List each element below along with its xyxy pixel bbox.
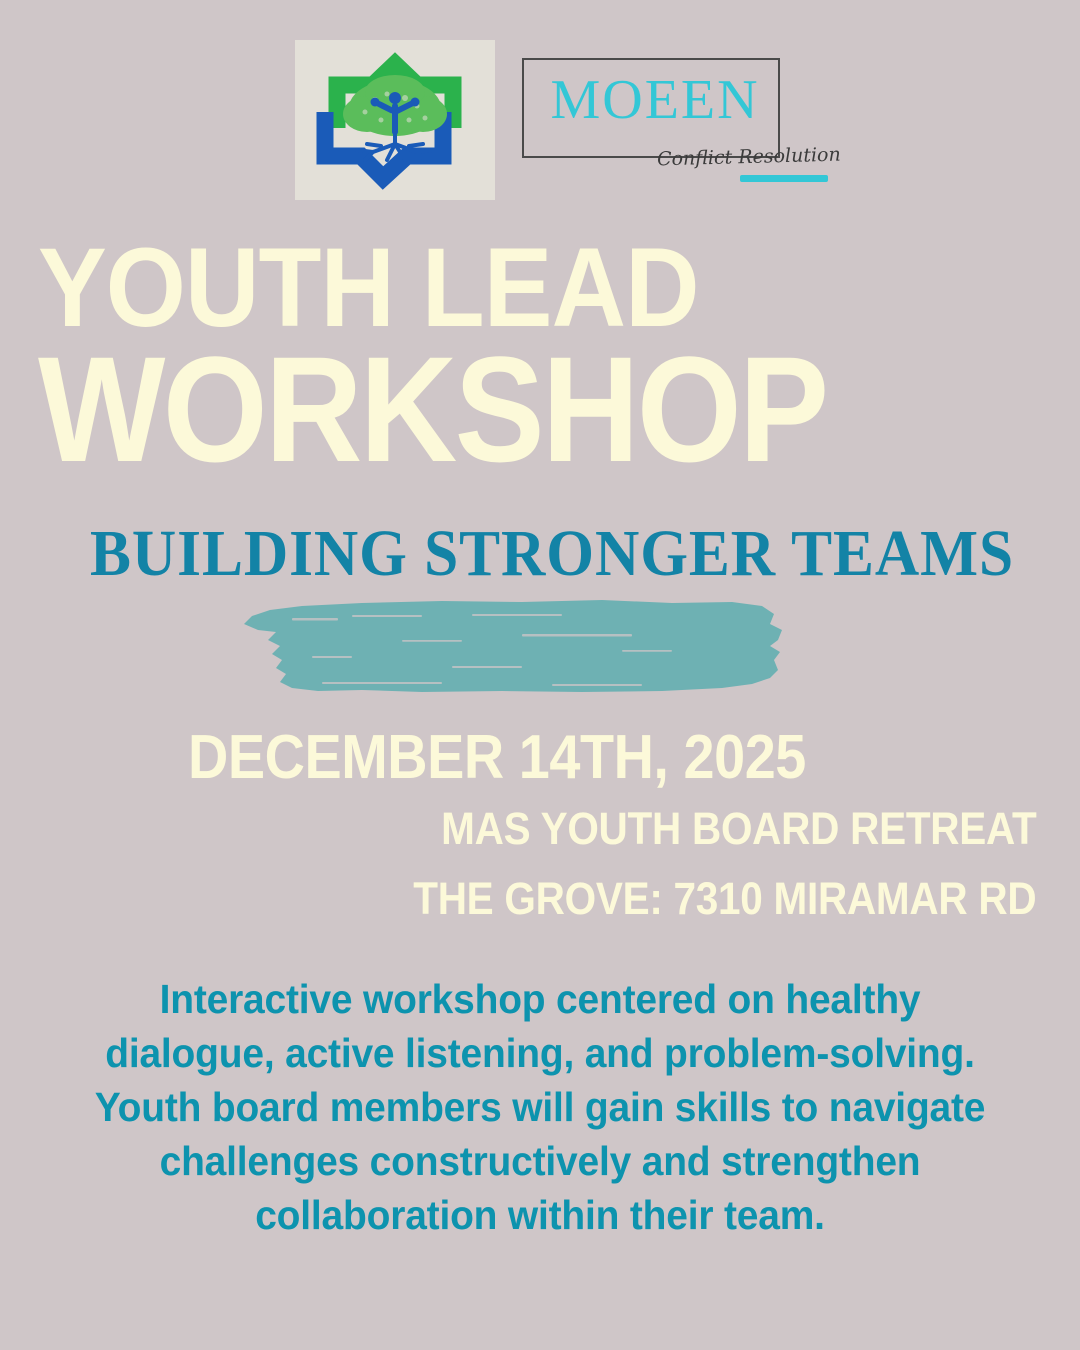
- moeen-tree-octagon-logo: [295, 40, 495, 200]
- header-logo-row: MOEEN Conflict Resolution: [0, 0, 1080, 225]
- description-line: challenges constructively and strengthen: [84, 1134, 996, 1188]
- description-line: Youth board members will gain skills to …: [84, 1080, 996, 1134]
- wordmark-dash: [522, 156, 650, 158]
- flyer-canvas: MOEEN Conflict Resolution YOUTH LEAD WOR…: [0, 0, 1080, 1350]
- wordmark-underline-brush: [740, 175, 828, 182]
- description-line: collaboration within their team.: [84, 1188, 996, 1242]
- wordmark-tagline: Conflict Resolution: [657, 144, 841, 171]
- event-date: DECEMBER 14TH, 2025: [188, 722, 806, 793]
- description-line: dialogue, active listening, and problem-…: [84, 1026, 996, 1080]
- subtitle: BUILDING STRONGER TEAMS: [90, 516, 927, 592]
- event-venue-name: MAS YOUTH BOARD RETREAT: [441, 803, 1036, 855]
- wordmark-text: MOEEN: [540, 70, 770, 130]
- description-line: Interactive workshop centered on healthy: [84, 972, 996, 1026]
- title-line-2: WORKSHOP: [38, 340, 826, 478]
- moeen-wordmark: MOEEN Conflict Resolution: [522, 58, 782, 168]
- event-description: Interactive workshop centered on healthy…: [60, 972, 1020, 1242]
- title-line-1: YOUTH LEAD: [38, 236, 699, 339]
- event-venue-address: THE GROVE: 7310 MIRAMAR RD: [413, 873, 1036, 925]
- brush-stroke-divider: [222, 594, 802, 698]
